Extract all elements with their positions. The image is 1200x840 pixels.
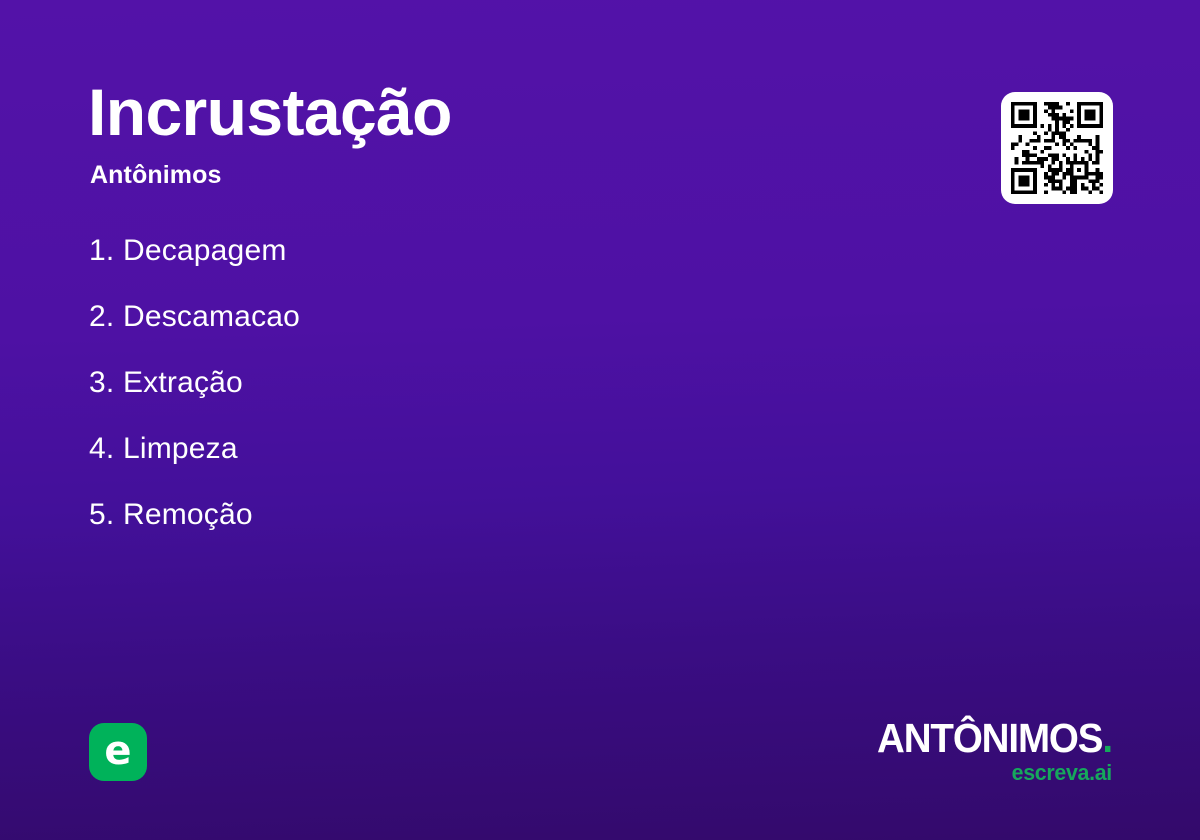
wordmark-tagline: escreva.ai xyxy=(870,762,1112,784)
list-item-label: Extração xyxy=(114,366,243,399)
list-item: 2. Descamacao xyxy=(89,302,789,332)
list-item: 1. Decapagem xyxy=(89,236,789,266)
wordmark-antonimos: ANTÔNIMOS. xyxy=(877,718,1112,759)
list-item-label: Descamacao xyxy=(114,300,300,333)
qr-code-icon xyxy=(1011,102,1103,194)
wordmark-dot: . xyxy=(1102,715,1112,761)
brand-wordmark: ANTÔNIMOS. escreva.ai xyxy=(862,718,1112,784)
list-item-label: Decapagem xyxy=(114,234,286,267)
list-item: 3. Extração xyxy=(89,368,789,398)
list-item-index: 5. xyxy=(89,498,114,531)
list-item-label: Remoção xyxy=(114,498,252,531)
brand-badge-letter: e xyxy=(104,731,131,771)
list-item-index: 4. xyxy=(89,432,114,465)
qr-code-card[interactable] xyxy=(1001,92,1113,204)
list-item: 4. Limpeza xyxy=(89,434,789,464)
page-title: Incrustação xyxy=(88,78,948,147)
list-item: 5. Remoção xyxy=(89,500,789,530)
list-item-index: 1. xyxy=(89,234,114,267)
title-block: Incrustação Antônimos xyxy=(88,78,948,190)
list-item-index: 3. xyxy=(89,366,114,399)
word-list: 1. Decapagem2. Descamacao3. Extração4. L… xyxy=(89,236,789,566)
escreva-logo-badge[interactable]: e xyxy=(89,723,147,781)
list-item-label: Limpeza xyxy=(114,432,237,465)
wordmark-text: ANTÔNIMOS xyxy=(877,715,1102,761)
slide-card: Incrustação Antônimos 1. Decapagem2. Des… xyxy=(0,0,1200,840)
list-item-index: 2. xyxy=(89,300,114,333)
page-subtitle: Antônimos xyxy=(90,161,948,190)
